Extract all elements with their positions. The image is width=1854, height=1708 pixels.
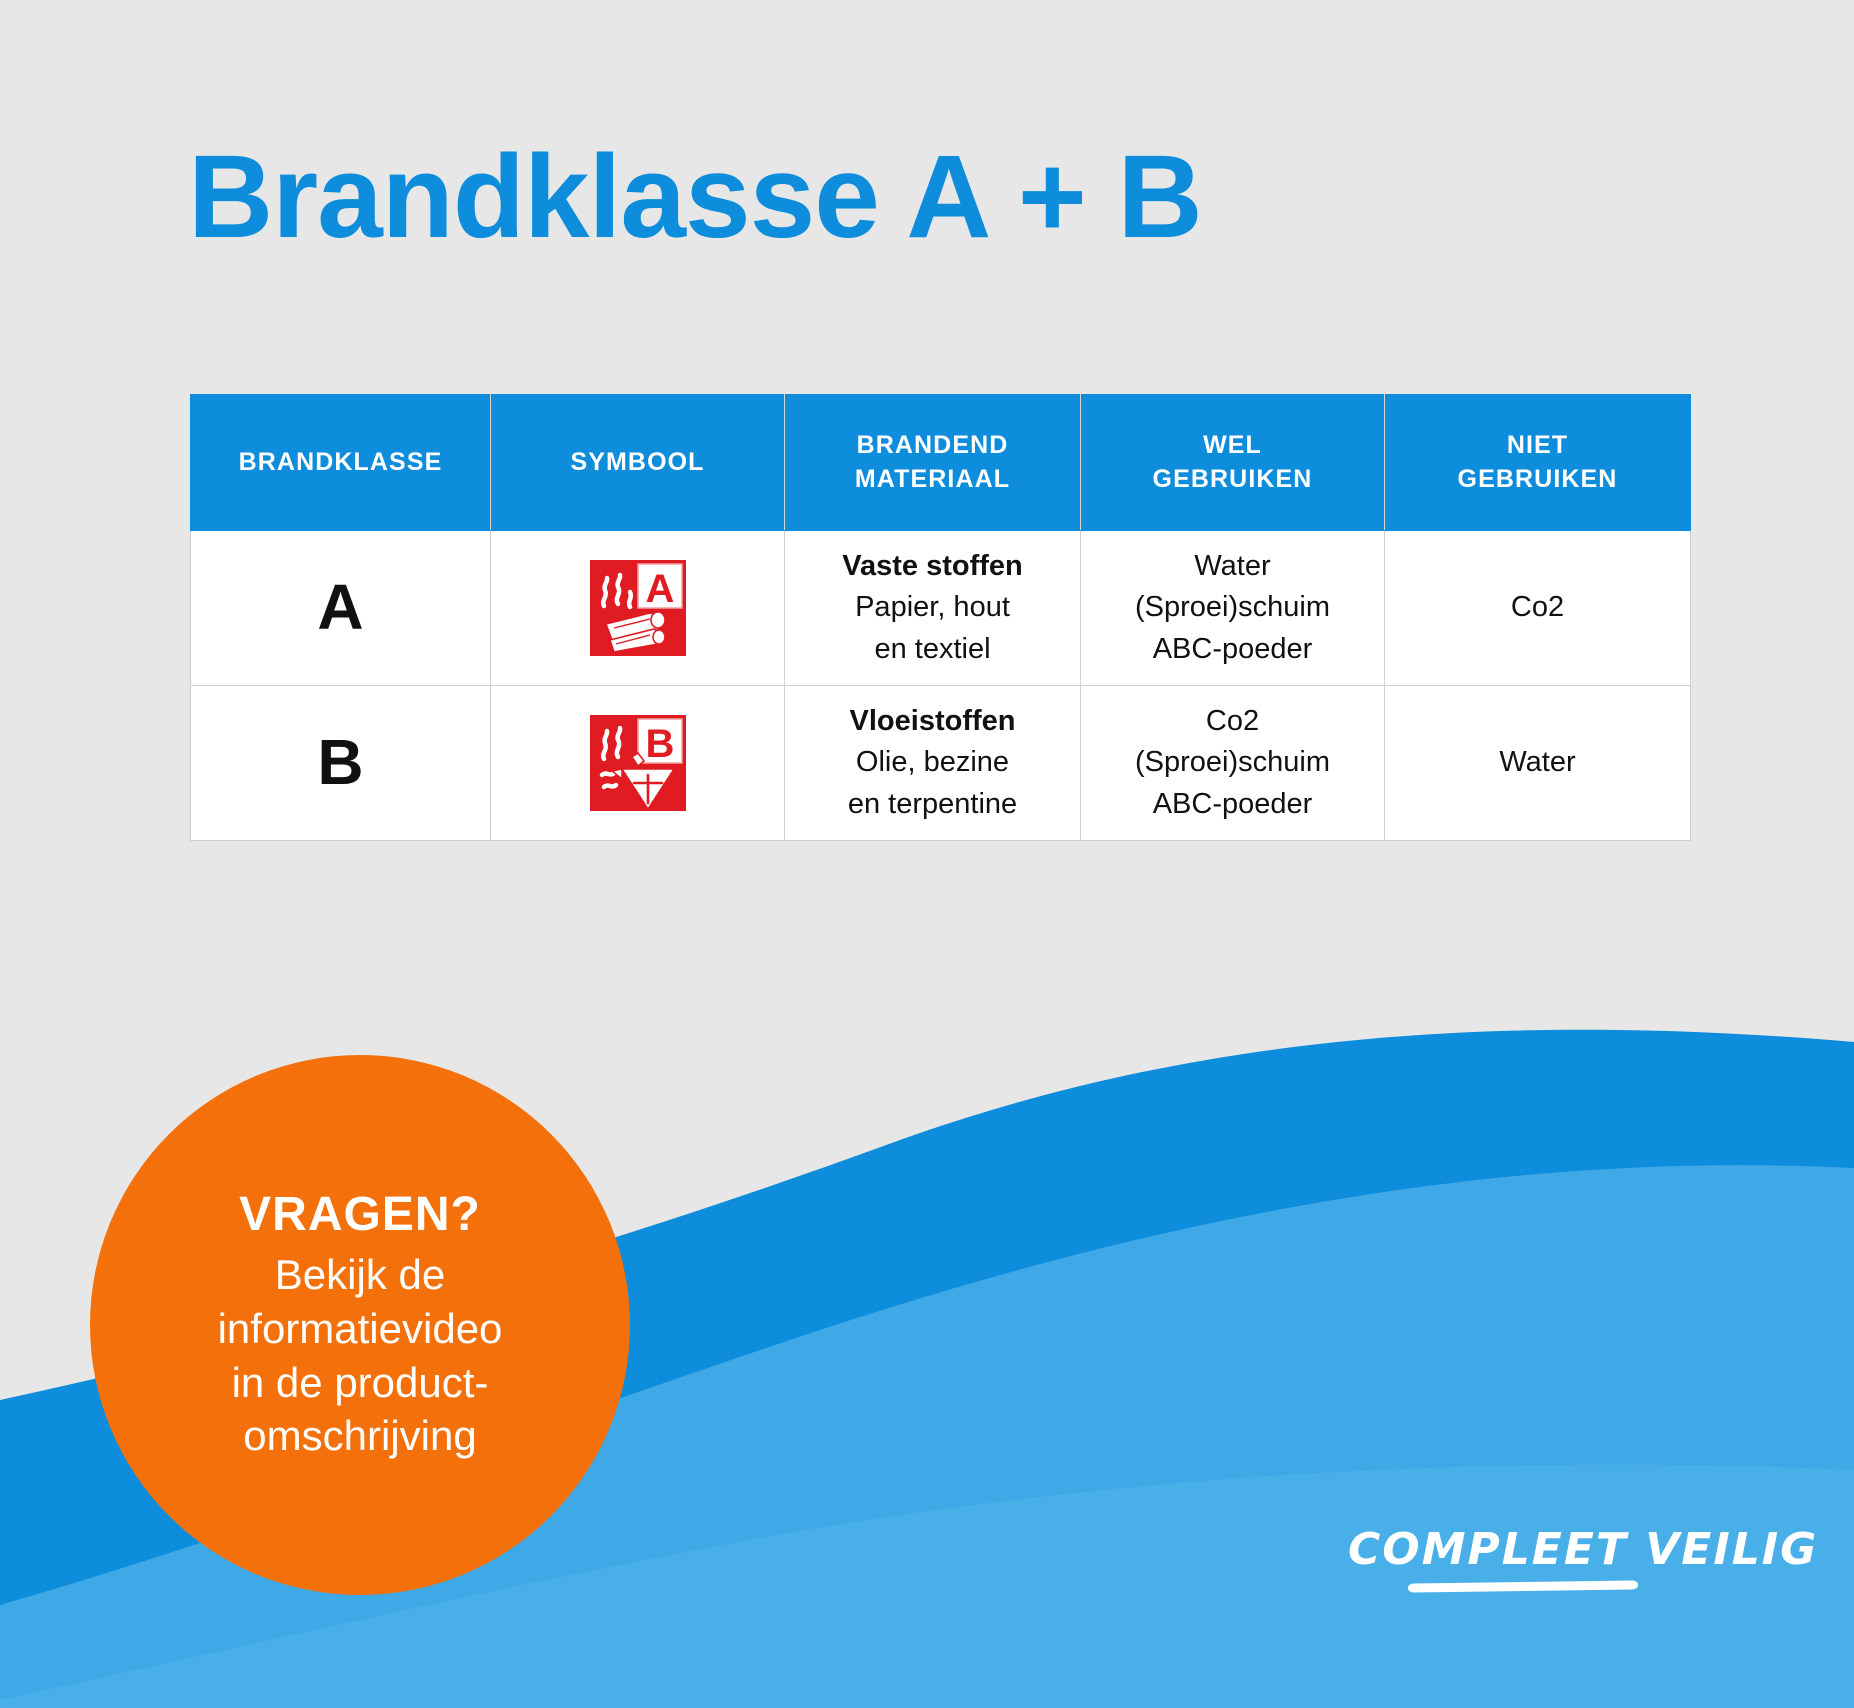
header-line: BRANDEND	[857, 431, 1009, 459]
wel-line: Water	[1091, 546, 1374, 587]
niet-line: Co2	[1395, 587, 1680, 628]
header-line: GEBRUIKEN	[1153, 465, 1313, 493]
vragen-title: VRAGEN?	[239, 1187, 481, 1242]
wel-line: (Sproei)schuim	[1091, 587, 1374, 628]
cell-brandklasse: A	[191, 531, 491, 686]
material-line: en terpentine	[795, 784, 1070, 825]
cell-brandend-materiaal: Vaste stoffen Papier, hout en textiel	[785, 531, 1081, 686]
brand-underline-stroke	[1408, 1580, 1638, 1592]
vragen-line: informatievideo	[218, 1302, 503, 1356]
fire-class-table: BRANDKLASSE SYMBOOL BRANDEND MATERIAAL W…	[190, 394, 1691, 841]
table-row: B B	[191, 686, 1691, 841]
vragen-line: omschrijving	[218, 1409, 503, 1463]
material-line: en textiel	[795, 629, 1070, 670]
table-header-row: BRANDKLASSE SYMBOOL BRANDEND MATERIAAL W…	[191, 395, 1691, 531]
class-letter: A	[317, 571, 363, 643]
vragen-callout-bubble[interactable]: VRAGEN? Bekijk de informatievideo in de …	[90, 1055, 630, 1595]
table-body: A A	[191, 531, 1691, 841]
wel-line: (Sproei)schuim	[1091, 742, 1374, 783]
header-line: MATERIAAL	[855, 465, 1010, 493]
column-header-wel-gebruiken: WEL GEBRUIKEN	[1081, 395, 1385, 531]
fire-class-table-container: BRANDKLASSE SYMBOOL BRANDEND MATERIAAL W…	[190, 394, 1690, 841]
cell-symbool: A	[491, 531, 785, 686]
niet-line: Water	[1395, 742, 1680, 783]
vragen-line: in de product-	[218, 1356, 503, 1410]
cell-symbool: B	[491, 686, 785, 841]
cell-wel-gebruiken: Co2 (Sproei)schuim ABC-poeder	[1081, 686, 1385, 841]
page-title: Brandklasse A + B	[188, 130, 1202, 266]
cell-niet-gebruiken: Water	[1385, 686, 1691, 841]
header-line: BRANDKLASSE	[239, 448, 443, 476]
svg-text:A: A	[645, 567, 674, 611]
material-title: Vaste stoffen	[795, 546, 1070, 587]
cell-wel-gebruiken: Water (Sproei)schuim ABC-poeder	[1081, 531, 1385, 686]
cell-brandend-materiaal: Vloeistoffen Olie, bezine en terpentine	[785, 686, 1081, 841]
material-title: Vloeistoffen	[795, 701, 1070, 742]
fire-class-b-icon: B	[588, 713, 688, 813]
table-header: BRANDKLASSE SYMBOOL BRANDEND MATERIAAL W…	[191, 395, 1691, 531]
vragen-body: Bekijk de informatievideo in de product-…	[218, 1248, 503, 1463]
wel-line: Co2	[1091, 701, 1374, 742]
header-line: SYMBOOL	[570, 448, 704, 476]
vragen-line: Bekijk de	[218, 1248, 503, 1302]
brand-name: COMPLEET VEILIG	[1348, 1528, 1818, 1572]
material-line: Olie, bezine	[795, 742, 1070, 783]
table-row: A A	[191, 531, 1691, 686]
cell-brandklasse: B	[191, 686, 491, 841]
header-line: NIET	[1507, 431, 1568, 459]
material-line: Papier, hout	[795, 587, 1070, 628]
class-letter: B	[317, 726, 363, 798]
svg-text:B: B	[645, 722, 674, 766]
fire-class-a-icon: A	[588, 558, 688, 658]
header-line: WEL	[1203, 431, 1262, 459]
wel-line: ABC-poeder	[1091, 629, 1374, 670]
column-header-niet-gebruiken: NIET GEBRUIKEN	[1385, 395, 1691, 531]
column-header-brandend-materiaal: BRANDEND MATERIAAL	[785, 395, 1081, 531]
header-line: GEBRUIKEN	[1458, 465, 1618, 493]
brand-logo: COMPLEET VEILIG	[1348, 1528, 1818, 1591]
wel-line: ABC-poeder	[1091, 784, 1374, 825]
column-header-brandklasse: BRANDKLASSE	[191, 395, 491, 531]
column-header-symbool: SYMBOOL	[491, 395, 785, 531]
cell-niet-gebruiken: Co2	[1385, 531, 1691, 686]
